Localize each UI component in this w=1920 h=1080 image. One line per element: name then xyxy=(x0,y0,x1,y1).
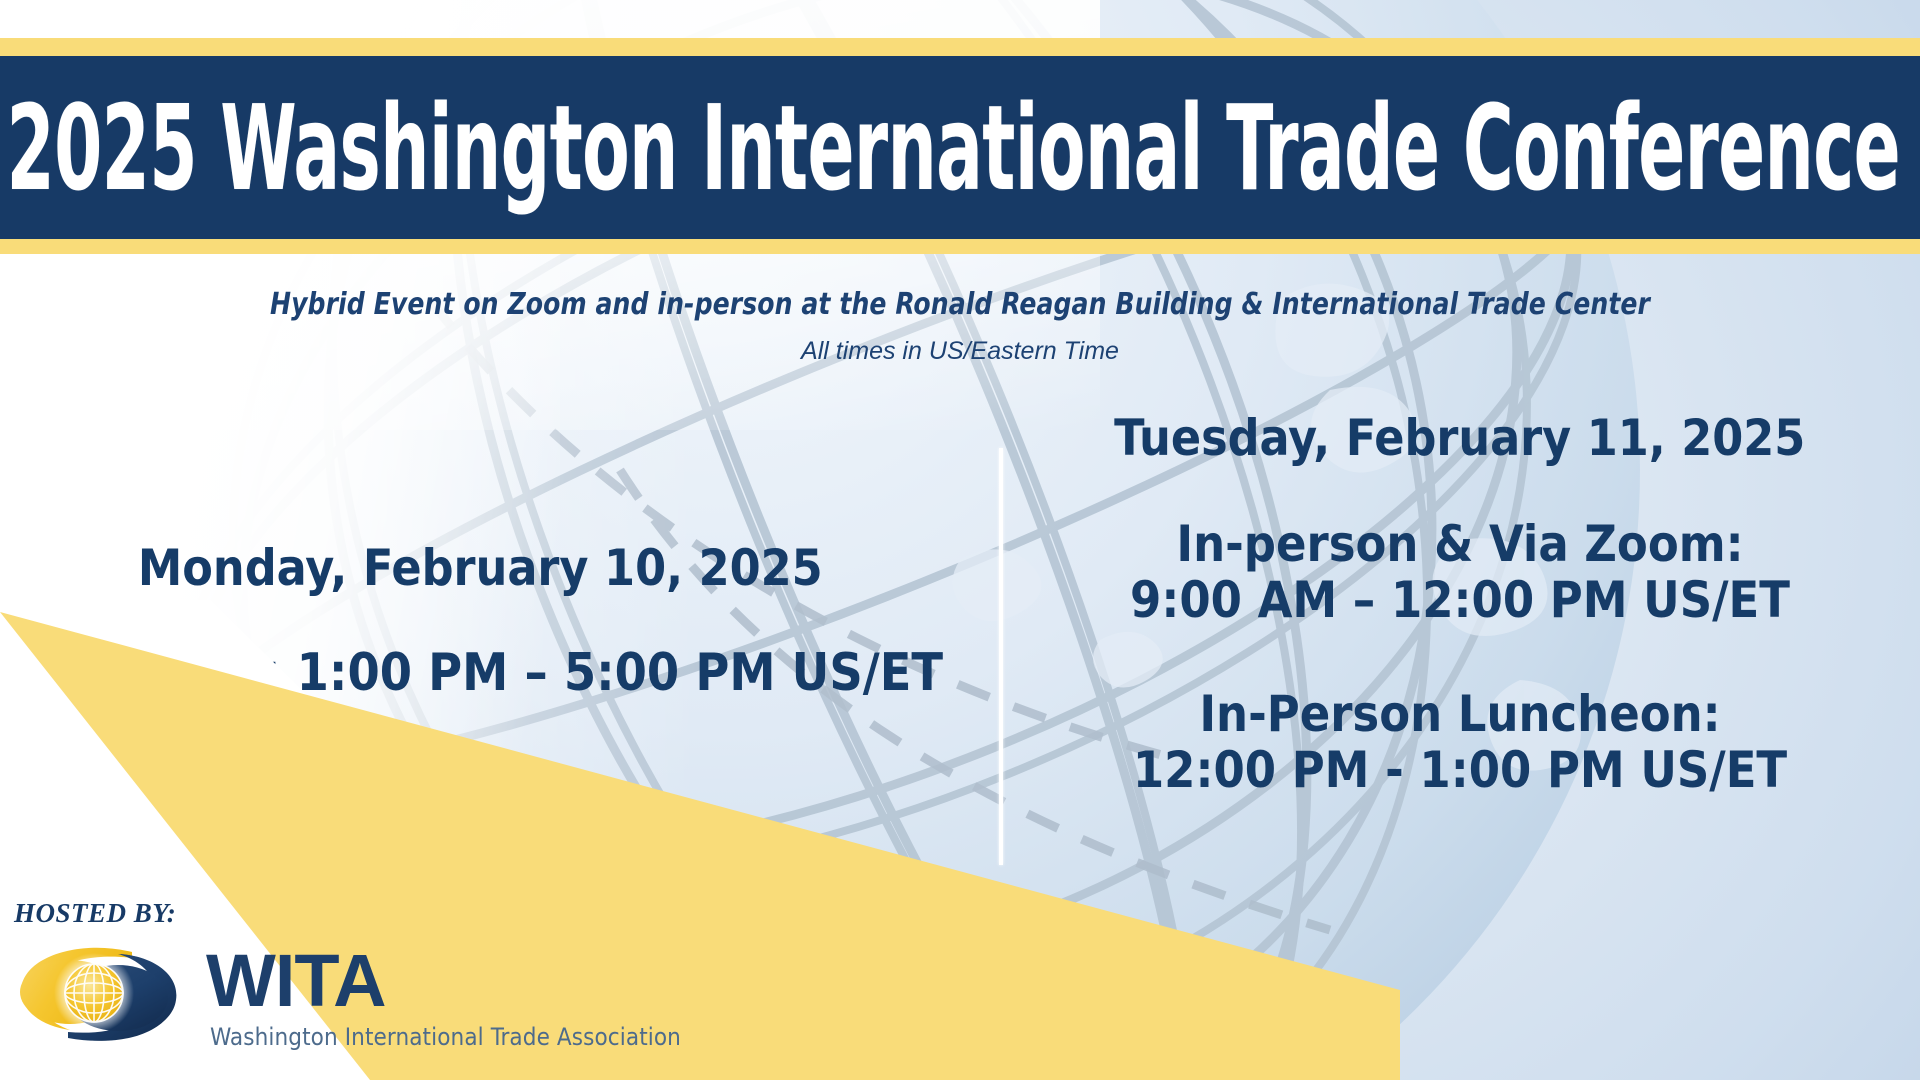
day1-date-heading: Monday, February 10, 2025 xyxy=(138,540,823,596)
hosted-by-label: HOSTED BY: xyxy=(14,898,176,929)
wita-globe-swirl-logo-icon xyxy=(14,938,194,1050)
accent-bar-bottom xyxy=(0,239,1920,254)
timezone-note: All times in US/Eastern Time xyxy=(0,337,1920,366)
wita-logo[interactable]: WITA Washington International Trade Asso… xyxy=(14,938,574,1058)
day2-session-morning-label: In-person & Via Zoom: xyxy=(1010,516,1910,572)
page-title: 2025 Washington International Trade Conf… xyxy=(0,89,1900,207)
wita-wordmark: WITA xyxy=(206,944,386,1018)
title-banner: 2025 Washington International Trade Conf… xyxy=(0,56,1920,239)
day2-date-heading: Tuesday, February 11, 2025 xyxy=(1114,410,1805,466)
event-format-subtitle: Hybrid Event on Zoom and in-person at th… xyxy=(67,287,1853,322)
wita-tagline: Washington International Trade Associati… xyxy=(210,1023,681,1051)
accent-bar-top xyxy=(0,38,1920,56)
conference-poster: 2025 Washington International Trade Conf… xyxy=(0,0,1920,1080)
